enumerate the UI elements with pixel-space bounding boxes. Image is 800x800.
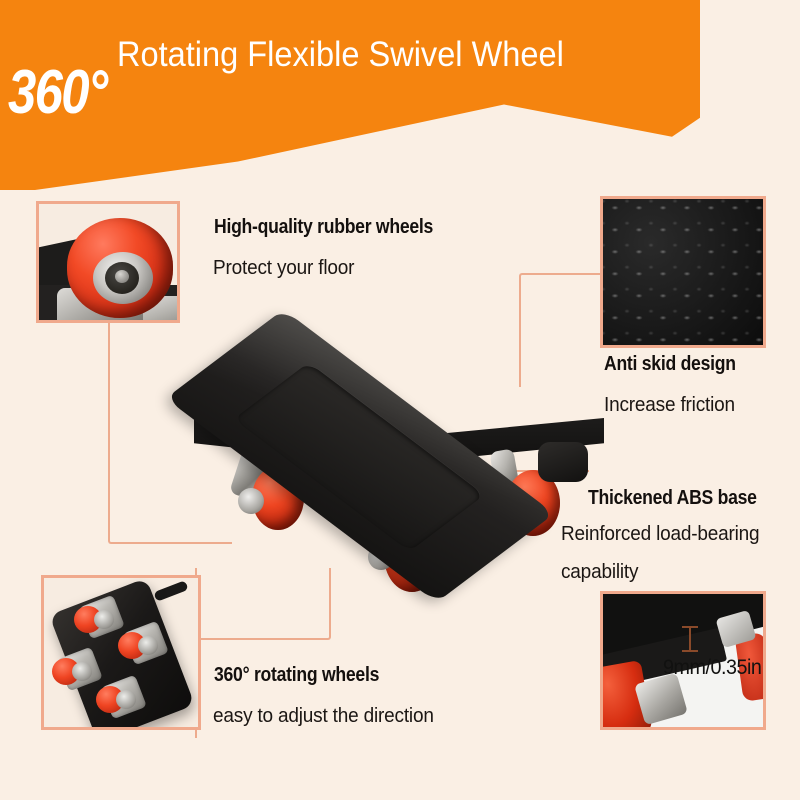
callout-subtext-rubber-wheels: Protect your floor [213,252,354,285]
product-corner-knob [538,442,588,482]
caster-unit [56,650,100,692]
callout-subtext-rotating-wheels: easy to adjust the direction [213,700,434,733]
callout-subtext-anti-skid: Increase friction [604,389,735,422]
callout-heading-abs-base: Thickened ABS base [588,486,757,510]
infographic-page: Rotating Flexible Swivel Wheel 360° [0,0,800,800]
callout-heading-rubber-wheels: High-quality rubber wheels [214,215,433,239]
anti-skid-texture-photo [603,199,763,345]
caster-unit [122,624,166,666]
thickness-measure-marker [689,626,691,652]
page-title: Rotating Flexible Swivel Wheel [117,30,601,80]
360-degree-badge: 360° [8,62,107,124]
callout-heading-rotating-wheels: 360° rotating wheels [214,663,379,687]
wheel-closeup-photo [39,204,177,320]
inset-frame-rubber-wheels [36,201,180,323]
callout-subtext-abs-base-line1: Reinforced load-bearing [561,518,759,551]
underside-casters-photo [44,578,198,727]
inset-frame-abs-base: 9mm/0.35in [600,591,766,730]
base-thickness-photo: 9mm/0.35in [603,594,763,727]
caster-unit [78,598,122,640]
product-hero-image [188,332,612,624]
callout-heading-anti-skid: Anti skid design [604,352,736,376]
caster-unit [100,678,144,720]
callout-subtext-abs-base-line2: capability [561,556,638,589]
inset-frame-anti-skid [600,196,766,348]
thickness-label: 9mm/0.35in [663,656,761,680]
inset-frame-rotating-wheels [41,575,201,730]
